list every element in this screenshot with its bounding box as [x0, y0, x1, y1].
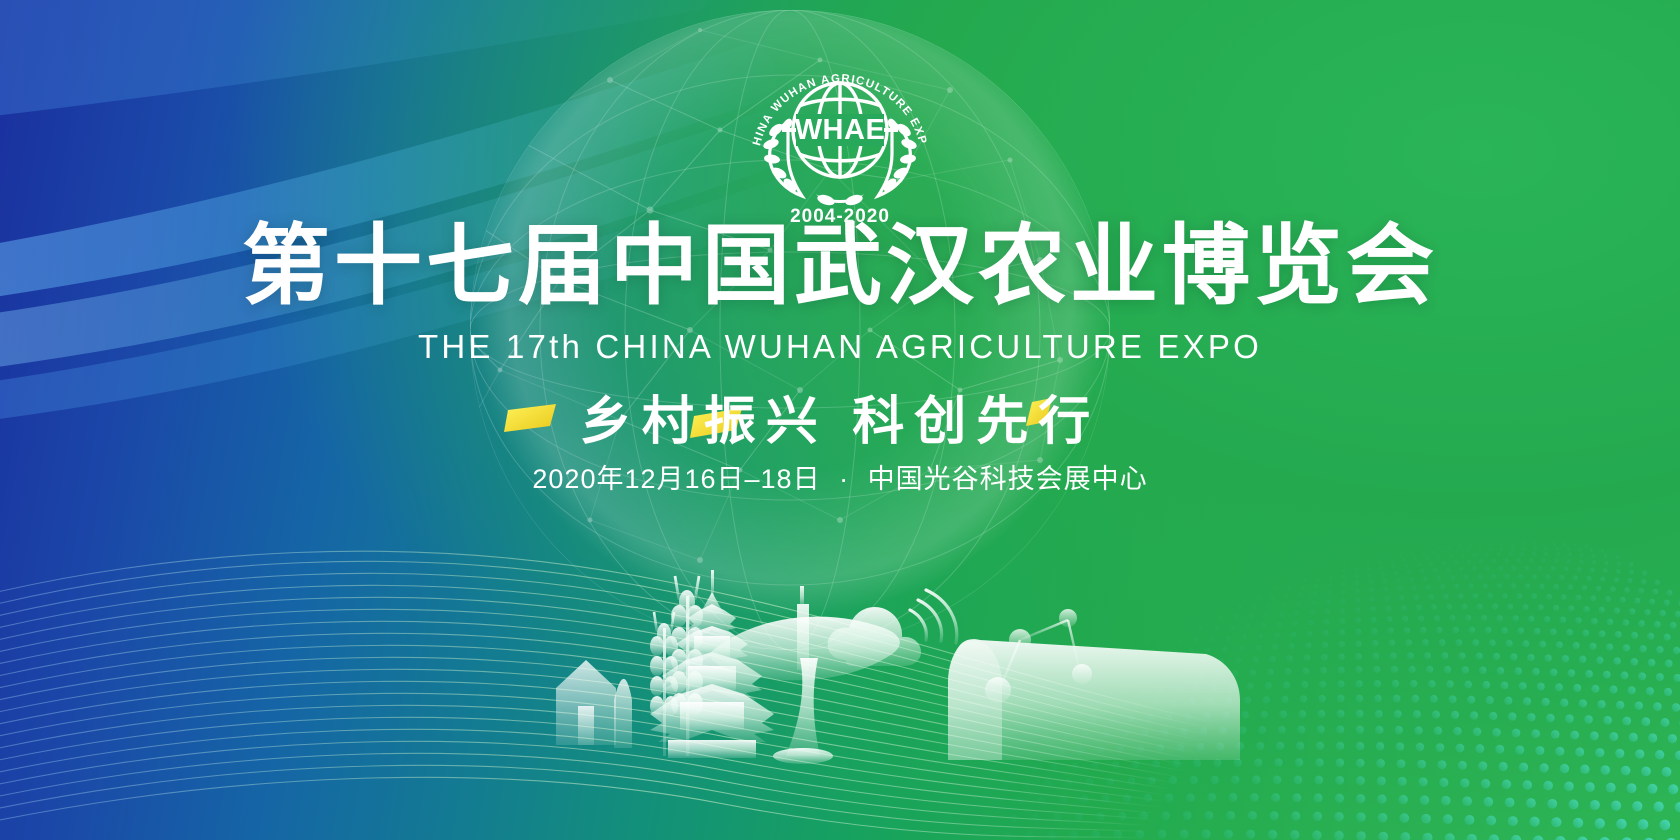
event-date: 2020年12月16日–18日: [532, 464, 820, 494]
wheat-stalk-small-icon: [650, 608, 678, 756]
dateline: 2020年12月16日–18日 · 中国光谷科技会展中心: [0, 466, 1680, 493]
expo-poster: CHINA WUHAN AGRICULTURE EXPO WHAE: [0, 0, 1680, 840]
slogan-graphic: 乡村振兴 科创先行: [0, 392, 1680, 450]
wheat-stalk-large-icon: [671, 572, 703, 756]
emblem-monogram: WHAE: [795, 114, 886, 146]
house-icon: [556, 660, 616, 745]
expo-emblem: CHINA WUHAN AGRICULTURE EXPO WHAE: [730, 34, 950, 229]
molecule-icon: [985, 609, 1092, 703]
radio-tower-icon: [797, 586, 809, 670]
event-venue: 中国光谷科技会展中心: [868, 464, 1148, 494]
globe-wreath-emblem: CHINA WUHAN AGRICULTURE EXPO WHAE: [730, 34, 950, 224]
satellite-dish-icon: [711, 617, 900, 764]
slogan-text: 乡村振兴 科创先行: [580, 393, 1100, 450]
page-title: 第十七届中国武汉农业博览会: [0, 222, 1680, 310]
cloud-wifi-icon: [828, 590, 957, 666]
slogan: 乡村振兴 科创先行: [0, 392, 1680, 450]
page-subtitle-en: THE 17th CHINA WUHAN AGRICULTURE EXPO: [0, 330, 1680, 363]
tree-icon: [614, 679, 632, 748]
yellow-crane-tower-icon: [650, 570, 774, 758]
greenhouse-tunnel-icon: [948, 639, 1240, 760]
dateline-separator: ·: [829, 464, 859, 494]
